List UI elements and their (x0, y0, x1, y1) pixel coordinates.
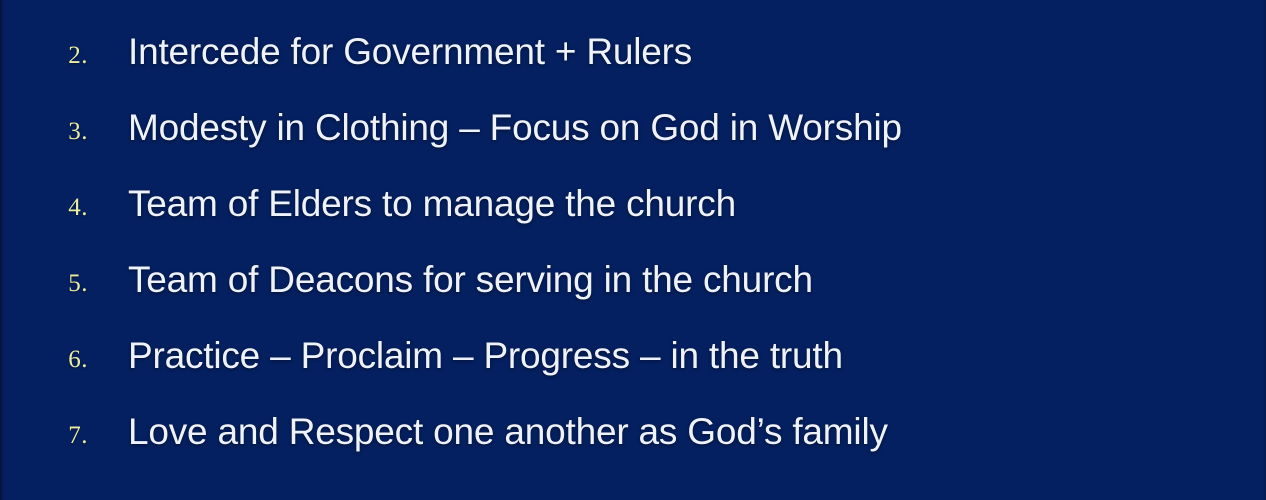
list-item: 5. Team of Deacons for serving in the ch… (0, 242, 1266, 318)
list-item-number: 6. (0, 341, 88, 372)
list-item-number: 5. (0, 265, 88, 296)
list-item: 7. Love and Respect one another as God’s… (0, 394, 1266, 470)
list-item-text: Team of Elders to manage the church (128, 184, 736, 224)
list-item: 4. Team of Elders to manage the church (0, 166, 1266, 242)
list-item: 1. Deal with False Teaching in your chur… (0, 0, 1266, 14)
list-item-number: 4. (0, 189, 88, 220)
list-item-text: Modesty in Clothing – Focus on God in Wo… (128, 108, 902, 148)
list-item-number: 7. (0, 417, 88, 448)
list-item-text: Practice – Proclaim – Progress – in the … (128, 336, 843, 376)
numbered-list: 1. Deal with False Teaching in your chur… (0, 0, 1266, 470)
list-item-text: Team of Deacons for serving in the churc… (128, 260, 813, 300)
list-item: 2. Intercede for Government + Rulers (0, 14, 1266, 90)
list-item: 3. Modesty in Clothing – Focus on God in… (0, 90, 1266, 166)
list-item: 6. Practice – Proclaim – Progress – in t… (0, 318, 1266, 394)
presentation-slide: 1. Deal with False Teaching in your chur… (0, 0, 1266, 500)
list-item-number: 3. (0, 113, 88, 144)
list-item-text: Love and Respect one another as God’s fa… (128, 412, 888, 452)
list-item-number: 2. (0, 37, 88, 68)
list-item-text: Intercede for Government + Rulers (128, 32, 692, 72)
